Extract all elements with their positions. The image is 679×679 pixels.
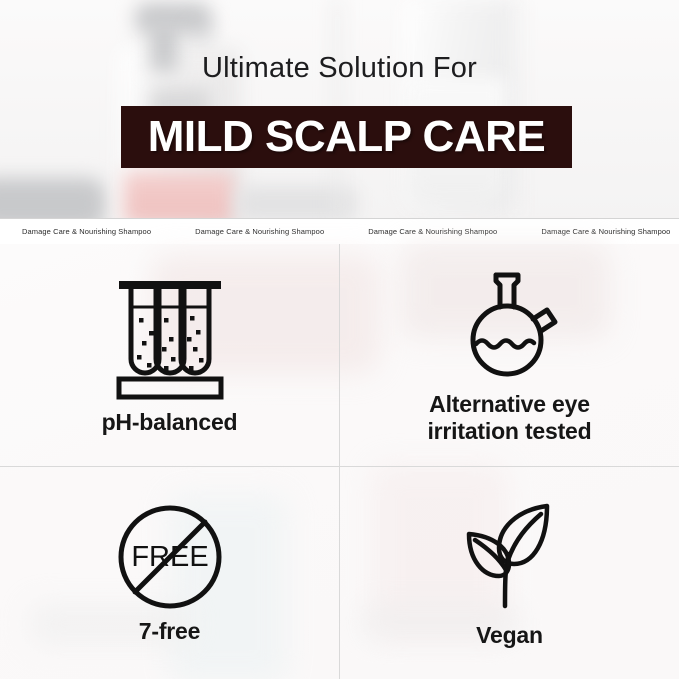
feature-label-eye-irritation: Alternative eye irritation tested <box>427 391 591 444</box>
headline-subtitle: Ultimate Solution For <box>0 52 679 85</box>
feature-label-ph-balanced: pH-balanced <box>102 409 238 436</box>
feature-label-seven-free: 7-free <box>139 618 200 645</box>
product-feature-infographic: Ultimate Solution For MILD SCALP CARE Da… <box>0 0 679 679</box>
feature-label-line-1: Alternative eye <box>427 391 591 418</box>
blurred-shadow-left <box>0 178 106 218</box>
ticker-item: Damage Care & Nourishing Shampoo <box>0 227 173 236</box>
hero-banner: Ultimate Solution For MILD SCALP CARE <box>0 0 679 218</box>
blurred-pink-liquid <box>124 172 234 218</box>
no-free-circle-icon: FREE <box>115 502 225 612</box>
leaf-plant-icon <box>455 498 565 616</box>
feature-cell-seven-free: FREE 7-free <box>0 467 339 679</box>
ticker-item: Damage Care & Nourishing Shampoo <box>519 227 679 236</box>
round-flask-icon <box>455 265 565 385</box>
blurred-pump-ring <box>189 20 211 44</box>
feature-cell-ph-balanced: pH-balanced <box>0 244 339 466</box>
feature-label-vegan: Vegan <box>476 622 543 649</box>
page-title: MILD SCALP CARE <box>148 112 545 162</box>
ticker-item: Damage Care & Nourishing Shampoo <box>173 227 346 236</box>
feature-cell-eye-irritation: Alternative eye irritation tested <box>340 244 679 466</box>
marquee-ticker: Damage Care & Nourishing Shampoo Damage … <box>0 218 679 245</box>
feature-label-line-2: irritation tested <box>427 418 591 445</box>
ticker-item: Damage Care & Nourishing Shampoo <box>346 227 519 236</box>
test-tube-rack-icon <box>111 275 229 403</box>
feature-cell-vegan: Vegan <box>340 467 679 679</box>
feature-grid: pH-balanced <box>0 244 679 679</box>
headline-band: MILD SCALP CARE <box>121 106 572 168</box>
